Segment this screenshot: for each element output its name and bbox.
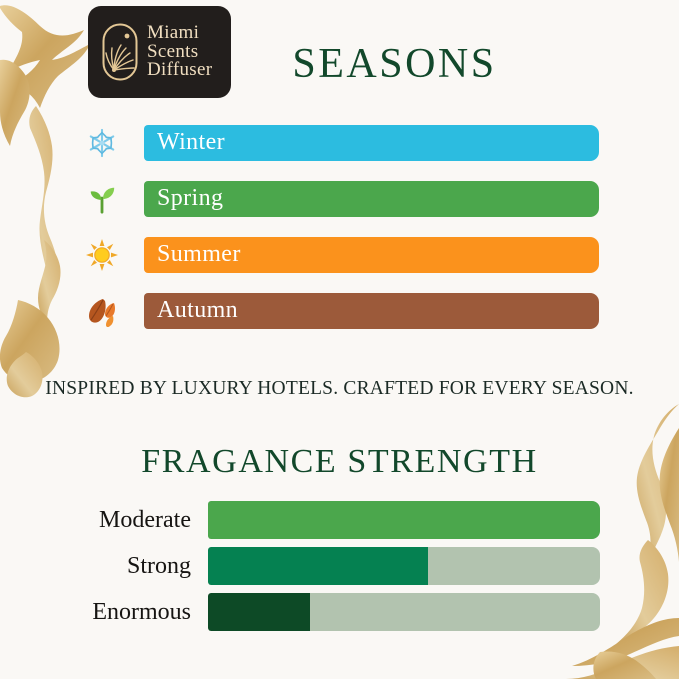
- strength-track-strong[interactable]: [208, 547, 600, 585]
- strength-track-enormous[interactable]: [208, 593, 600, 631]
- fallen-leaves-icon: [78, 291, 126, 331]
- snowflake-icon: [78, 123, 126, 163]
- season-label: Autumn: [157, 298, 238, 322]
- sun-icon: [78, 235, 126, 275]
- strength-label: Moderate: [60, 508, 208, 532]
- strength-track-moderate[interactable]: [208, 501, 600, 539]
- strength-fill-moderate: [208, 501, 600, 539]
- fragrance-strength-heading: FRAGANCE STRENGTH: [0, 443, 679, 481]
- logo-line-3: Diffuser: [147, 61, 212, 80]
- season-row-winter: Winter: [78, 123, 599, 163]
- season-bar-autumn[interactable]: Autumn: [144, 293, 599, 329]
- strength-fill-strong: [208, 547, 428, 585]
- season-label: Summer: [157, 242, 241, 266]
- season-row-autumn: Autumn: [78, 291, 599, 331]
- brand-logo-badge: Miami Scents Diffuser: [88, 6, 231, 98]
- shell-capsule-icon: [100, 21, 140, 83]
- season-row-spring: Spring: [78, 179, 599, 219]
- logo-line-1: Miami: [147, 24, 212, 43]
- strength-row-strong: Strong: [60, 544, 600, 588]
- tagline-text: INSPIRED BY LUXURY HOTELS. CRAFTED FOR E…: [0, 378, 679, 400]
- seasons-bar-list: Winter Spring: [78, 123, 599, 331]
- seedling-icon: [78, 179, 126, 219]
- season-bar-summer[interactable]: Summer: [144, 237, 599, 273]
- season-row-summer: Summer: [78, 235, 599, 275]
- strength-label: Strong: [60, 554, 208, 578]
- strength-row-enormous: Enormous: [60, 590, 600, 634]
- season-bar-spring[interactable]: Spring: [144, 181, 599, 217]
- strength-label: Enormous: [60, 600, 208, 624]
- strength-row-moderate: Moderate: [60, 498, 600, 542]
- season-bar-winter[interactable]: Winter: [144, 125, 599, 161]
- season-label: Winter: [157, 130, 225, 154]
- strength-fill-enormous: [208, 593, 310, 631]
- fragrance-strength-chart: Moderate Strong Enormous: [60, 498, 600, 636]
- season-label: Spring: [157, 186, 223, 210]
